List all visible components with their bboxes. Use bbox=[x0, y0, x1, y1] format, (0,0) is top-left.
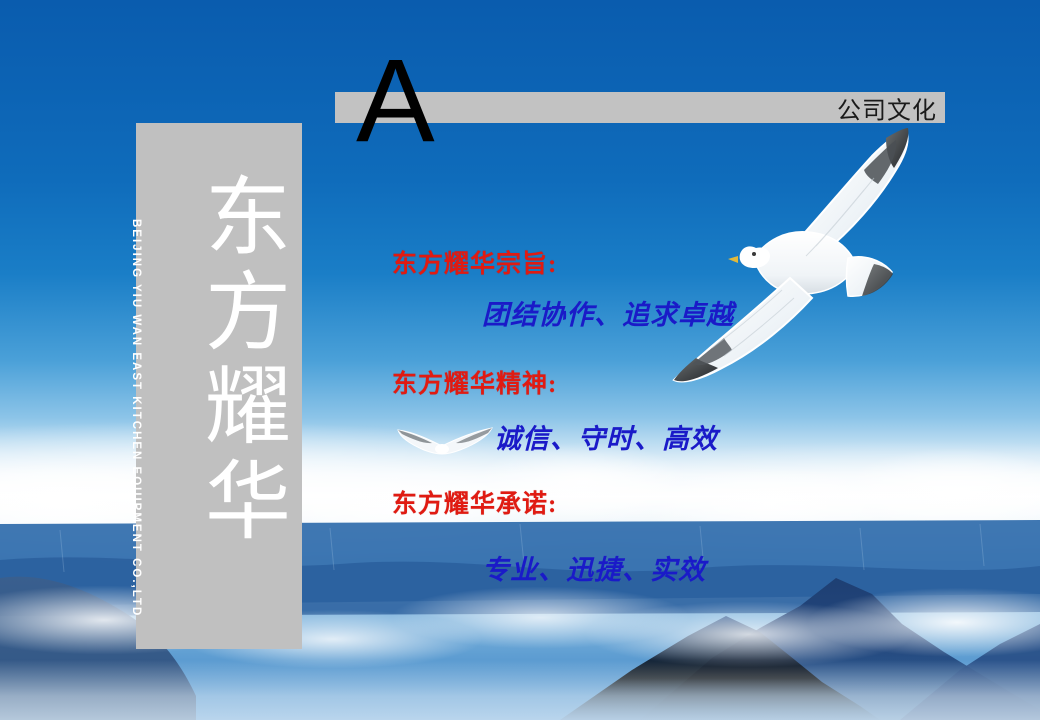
company-side-panel: BEIJING YIU WAN EAST KITCHEN EQUIPMENT C… bbox=[136, 123, 302, 649]
section-letter: A bbox=[356, 42, 435, 160]
page-title: 公司文化 bbox=[837, 90, 937, 125]
seagull-icon bbox=[650, 118, 920, 418]
seagull-small bbox=[392, 418, 500, 470]
culture-body-purpose: 团结协作、追求卓越 bbox=[482, 293, 734, 332]
company-name-cn: 东 方 耀 华 bbox=[196, 171, 300, 549]
culture-heading-spirit: 东方耀华精神: bbox=[392, 364, 557, 400]
culture-body-promise: 专业、迅捷、实效 bbox=[482, 548, 706, 587]
culture-heading-promise: 东方耀华承诺: bbox=[392, 484, 557, 520]
company-name-en: BEIJING YIU WAN EAST KITCHEN EQUIPMENT C… bbox=[130, 219, 142, 579]
slide-canvas: BEIJING YIU WAN EAST KITCHEN EQUIPMENT C… bbox=[0, 0, 1040, 720]
culture-body-spirit: 诚信、守时、高效 bbox=[494, 417, 718, 456]
culture-heading-purpose: 东方耀华宗旨: bbox=[392, 244, 557, 280]
seagull-icon bbox=[392, 418, 500, 470]
seagull-large bbox=[650, 118, 920, 418]
